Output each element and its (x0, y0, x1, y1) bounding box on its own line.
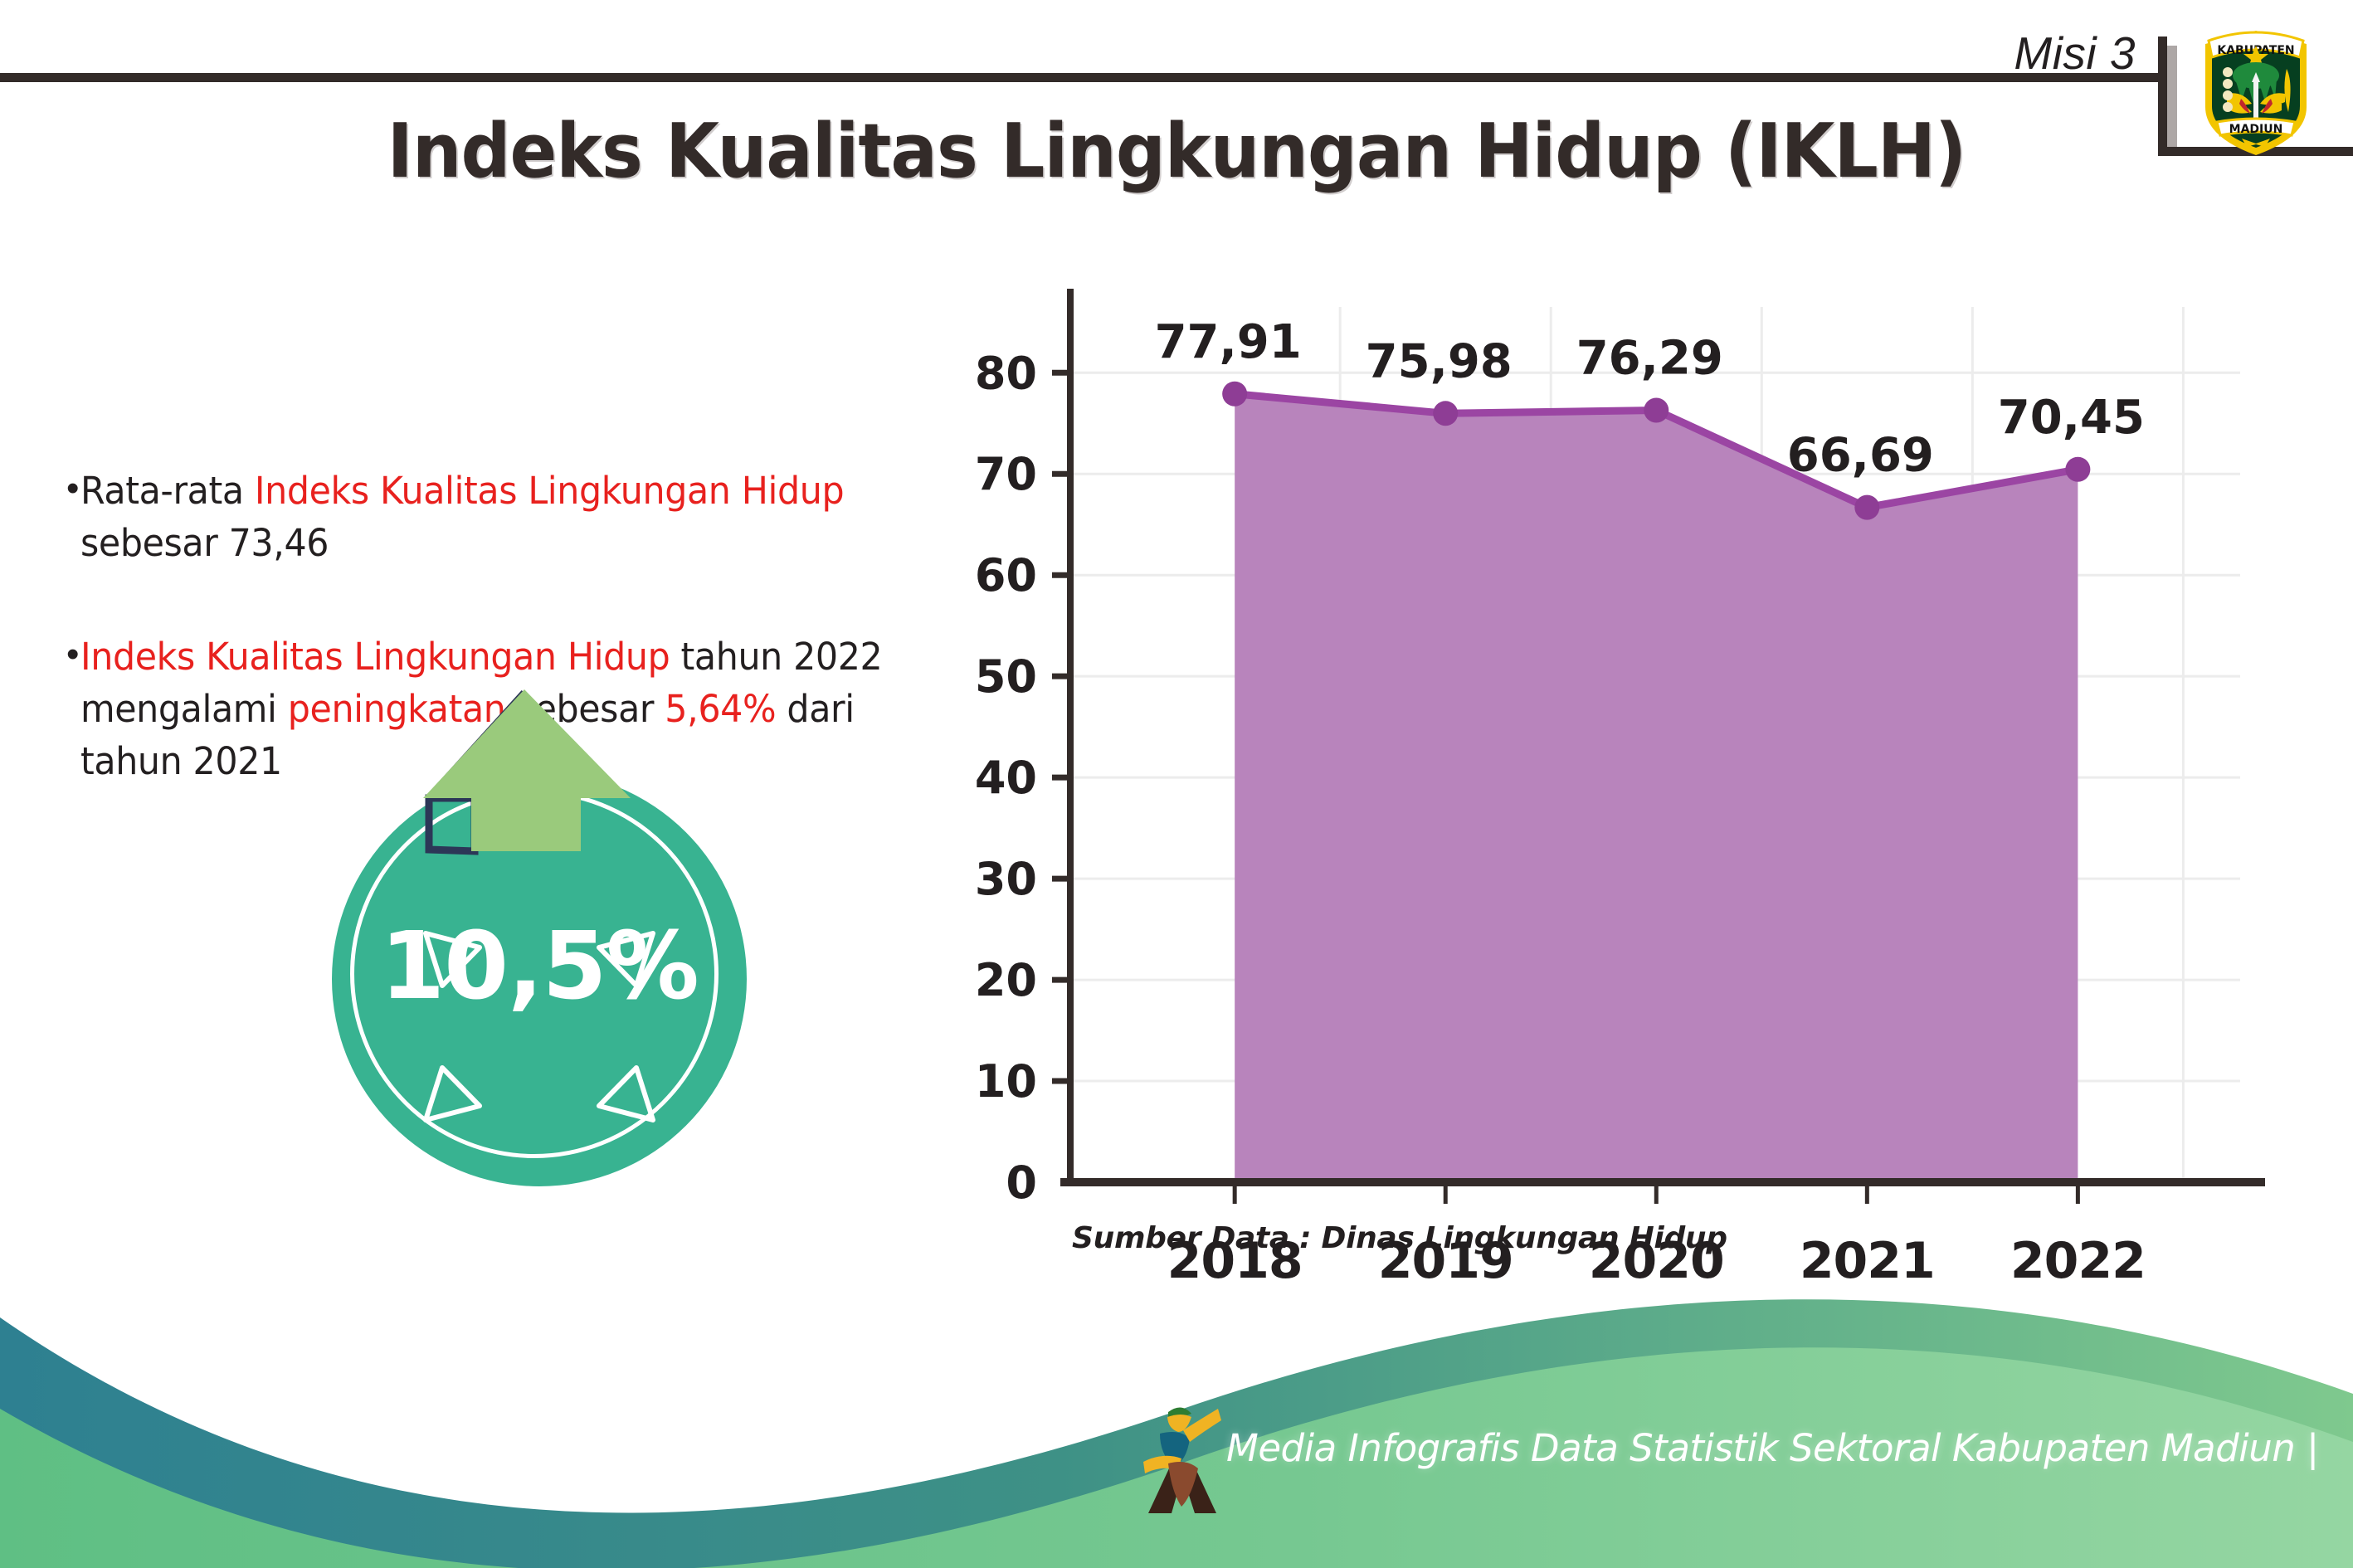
footer-caption: Media Infografis Data Statistik Sektoral… (1226, 1426, 2319, 1470)
x-tick-label: 2022 (2010, 1232, 2146, 1290)
insight-highlight: Indeks Kualitas Lingkungan Hidup (255, 469, 844, 513)
chart-area-fill (1235, 394, 2078, 1182)
growth-badge: 10,5% (332, 772, 747, 1186)
insight-text: Rata-rata Indeks Kualitas Lingkungan Hid… (80, 465, 918, 569)
page-title: Indeks Kualitas Lingkungan Hidup (IKLH) (82, 108, 2270, 195)
y-tick-label: 70 (975, 448, 1037, 500)
statistics-figure-logo-icon (1143, 1400, 1223, 1517)
iklh-area-chart: 01020304050607080 20182019202020212022 7… (971, 274, 2298, 1294)
y-tick-label: 50 (975, 650, 1037, 703)
header-rule (0, 73, 2167, 82)
y-tick-label: 20 (975, 954, 1037, 1006)
chart-source-note: Sumber Data : Dinas Lingkungan Hidup (1072, 1221, 1727, 1255)
bullet-dot-icon: • (66, 465, 79, 513)
data-point-label: 70,45 (1998, 391, 2145, 445)
y-tick-label: 40 (975, 752, 1037, 804)
y-tick-label: 10 (975, 1055, 1037, 1108)
bullet-dot-icon: • (66, 631, 79, 679)
chart-y-axis-labels: 01020304050607080 (975, 347, 1037, 1209)
data-point-label: 66,69 (1787, 429, 1934, 483)
data-point-label: 77,91 (1155, 315, 1302, 369)
data-point-label: 76,29 (1576, 332, 1723, 386)
footer: Media Infografis Data Statistik Sektoral… (0, 1286, 2353, 1568)
insight-plain: sebesar 73,46 (80, 521, 329, 565)
badge-value: 10,5% (332, 913, 747, 1020)
x-tick-label: 2021 (1800, 1232, 1935, 1290)
y-tick-label: 80 (975, 347, 1037, 399)
data-point-label: 75,98 (1366, 334, 1513, 388)
misi-label: Misi 3 (2014, 27, 2136, 80)
insight-plain: Rata-rata (80, 469, 255, 513)
y-tick-label: 0 (1006, 1157, 1037, 1209)
list-item: • Rata-rata Indeks Kualitas Lingkungan H… (66, 465, 962, 569)
y-tick-label: 60 (975, 549, 1037, 601)
y-tick-label: 30 (975, 853, 1037, 905)
